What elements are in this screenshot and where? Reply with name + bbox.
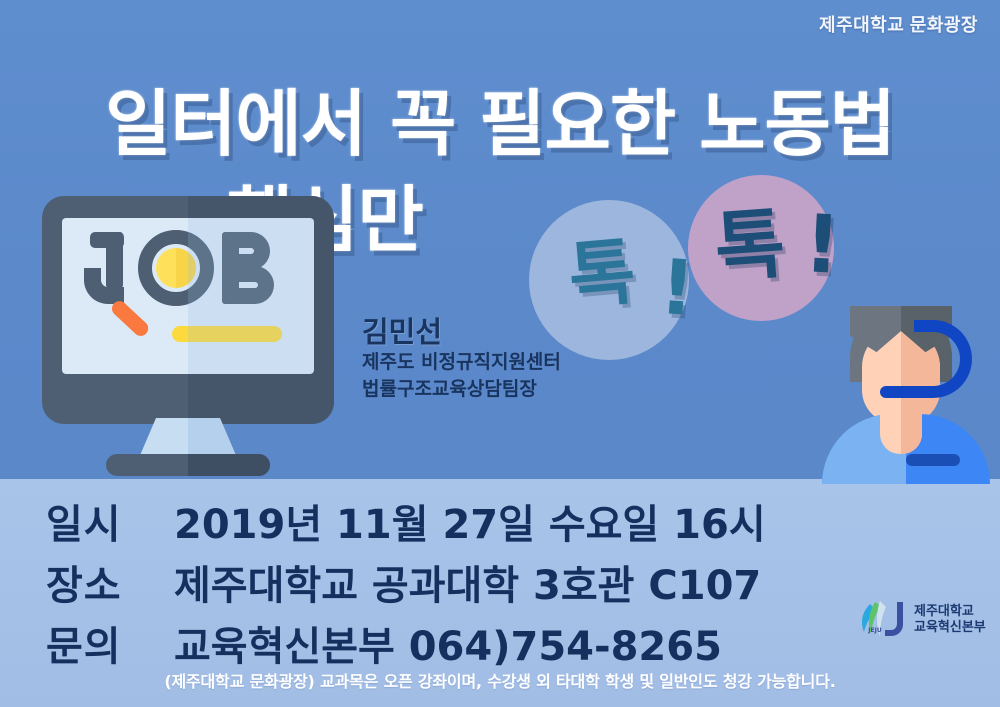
info-row-datetime: 일시 2019년 11월 27일 수요일 16시	[46, 492, 766, 550]
speaker-block: 김민선 제주도 비정규직지원센터 법률구조교육상담팀장	[362, 316, 561, 401]
page-title: 일터에서 꼭 필요한 노동법	[0, 86, 1000, 164]
info-label-contact: 문의	[46, 614, 174, 672]
poster-title-block: 일터에서 꼭 필요한 노동법 핵심만	[0, 86, 1000, 164]
magnifier-handle-icon	[109, 298, 151, 339]
monitor-screen-shadow	[188, 218, 314, 374]
monitor-base-shadow	[188, 454, 270, 476]
info-row-contact: 문의 교육혁신본부 064)754-8265	[46, 614, 766, 672]
speaker-org-line1: 제주도 비정규직지원센터	[362, 350, 561, 374]
person-shirt-badge	[906, 454, 960, 466]
headset-mic-icon	[880, 386, 936, 398]
logo-line-2: 교육혁신본부	[914, 620, 986, 636]
poster-header-title: 제주대학교 문화광장	[819, 11, 978, 37]
poster-footnote: (제주대학교 문화광장) 교과목은 오픈 강좌이며, 수강생 외 타대학 학생 …	[0, 668, 1000, 692]
info-row-location: 장소 제주대학교 공과대학 3호관 C107	[46, 553, 766, 611]
info-value-location: 제주대학교 공과대학 3호관 C107	[174, 553, 761, 611]
university-logo: JEJU 제주대학교 교육혁신본부	[856, 598, 986, 642]
logo-text-block: 제주대학교 교육혁신본부	[914, 604, 986, 637]
info-value-datetime: 2019년 11월 27일 수요일 16시	[174, 492, 766, 550]
jeju-logo-icon: JEJU	[856, 598, 908, 642]
info-value-contact: 교육혁신본부 064)754-8265	[174, 614, 722, 672]
headset-person-illustration	[818, 306, 994, 480]
info-label-datetime: 일시	[46, 492, 174, 550]
logo-line-1: 제주대학교	[914, 604, 986, 620]
event-info-panel: 일시 2019년 11월 27일 수요일 16시 장소 제주대학교 공과대학 3…	[46, 492, 766, 675]
speaker-org-line2: 법률구조교육상담팀장	[362, 377, 561, 401]
talk-bubble-blue-exclamation: !	[657, 249, 697, 327]
speaker-name: 김민선	[362, 316, 561, 348]
job-monitor-illustration	[42, 196, 334, 476]
svg-text:JEJU: JEJU	[867, 627, 882, 634]
monitor-screen	[62, 218, 314, 374]
event-poster: 제주대학교 문화광장 톡 ! 톡 ! 일터에서 꼭 필요한 노동법 핵심만 김민…	[0, 0, 1000, 707]
info-label-location: 장소	[46, 553, 174, 611]
letter-j-icon	[84, 232, 130, 304]
